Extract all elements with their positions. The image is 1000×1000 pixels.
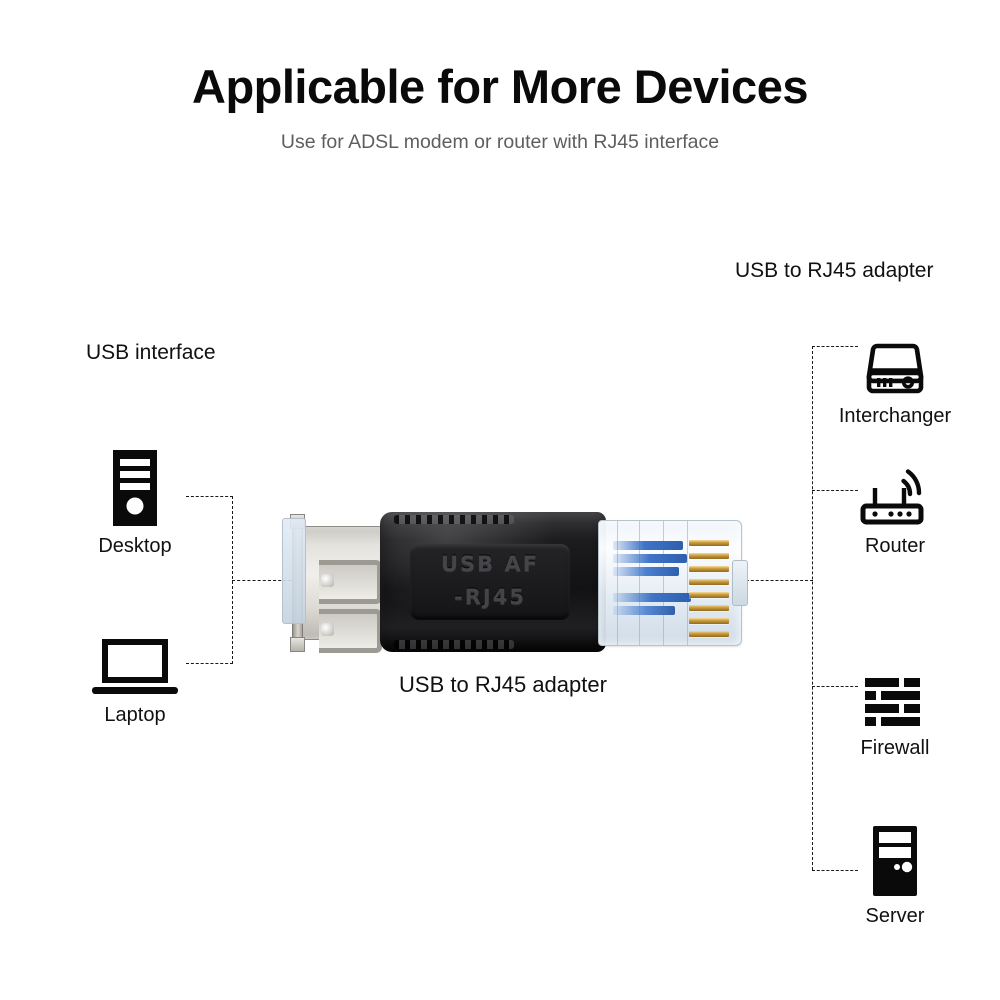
- rj45-wire-5: [613, 606, 675, 615]
- rj45-strain-relief: [282, 518, 306, 624]
- housing-ridges-top: [394, 515, 514, 524]
- rj45-wire-4: [613, 593, 691, 602]
- page-title: Applicable for More Devices: [0, 62, 1000, 111]
- usb-spring-tab-top: [319, 560, 382, 604]
- adapter-black-housing: USB AF -RJ45: [380, 512, 606, 652]
- rj45-pin-7: [689, 618, 729, 624]
- device-label-laptop: Laptop: [55, 704, 215, 727]
- rj45-pin-2: [689, 553, 729, 559]
- device-node-firewall: Firewall: [805, 650, 985, 760]
- usb-interface-caption: USB interface: [86, 341, 216, 365]
- usb-shell-tab-bottom: [290, 637, 305, 652]
- rj45-wire-1: [613, 541, 683, 550]
- rj45-seam-1: [617, 521, 618, 645]
- usb-spring-dot-bottom: [321, 623, 334, 636]
- device-label-firewall: Firewall: [805, 737, 985, 760]
- device-node-interchanger: Interchanger: [805, 318, 985, 428]
- rj45-latch-clip: [732, 560, 748, 606]
- device-label-router: Router: [805, 535, 985, 558]
- housing-emboss-text: USB AF -RJ45: [414, 548, 566, 613]
- emboss-line-2: -RJ45: [414, 581, 566, 614]
- rj45-pin-3: [689, 566, 729, 572]
- rj45-pin-5: [689, 592, 729, 598]
- firewall-brick-icon: [805, 650, 985, 728]
- rj45-male-connector: [598, 520, 742, 646]
- adapter-product-image: USB AF -RJ45: [292, 508, 748, 656]
- device-node-desktop: Desktop: [55, 448, 215, 558]
- rj45-seam-4: [687, 521, 688, 645]
- router-wifi-icon: [805, 448, 985, 526]
- usb-a-female-connector: [292, 526, 389, 640]
- header: Applicable for More Devices Use for ADSL…: [0, 0, 1000, 154]
- device-label-interchanger: Interchanger: [805, 405, 985, 428]
- rj45-seam-2: [639, 521, 640, 645]
- housing-ridges-bottom: [394, 640, 514, 649]
- server-tower-icon: [805, 818, 985, 896]
- adapter-caption-center-text: USB to RJ45 adapter: [399, 672, 607, 697]
- usb-spring-tab-bottom: [319, 609, 382, 653]
- rj45-pin-6: [689, 605, 729, 611]
- device-node-server: Server: [805, 818, 985, 928]
- device-label-desktop: Desktop: [55, 535, 215, 558]
- rj45-wire-2: [613, 554, 687, 563]
- network-switch-icon: [805, 318, 985, 396]
- adapter-caption-right: USB to RJ45 adapter: [735, 259, 933, 283]
- device-label-server: Server: [805, 905, 985, 928]
- rj45-pin-1: [689, 540, 729, 546]
- emboss-line-1: USB AF: [414, 548, 566, 581]
- desktop-tower-icon: [55, 448, 215, 526]
- usb-spring-dot-top: [321, 574, 334, 587]
- device-node-laptop: Laptop: [55, 617, 215, 727]
- device-node-router: Router: [805, 448, 985, 558]
- rj45-pin-8: [689, 631, 729, 637]
- rj45-seam-3: [663, 521, 664, 645]
- page-subtitle: Use for ADSL modem or router with RJ45 i…: [0, 131, 1000, 154]
- laptop-icon: [55, 617, 215, 695]
- rj45-pin-4: [689, 579, 729, 585]
- rj45-wire-3: [613, 567, 679, 576]
